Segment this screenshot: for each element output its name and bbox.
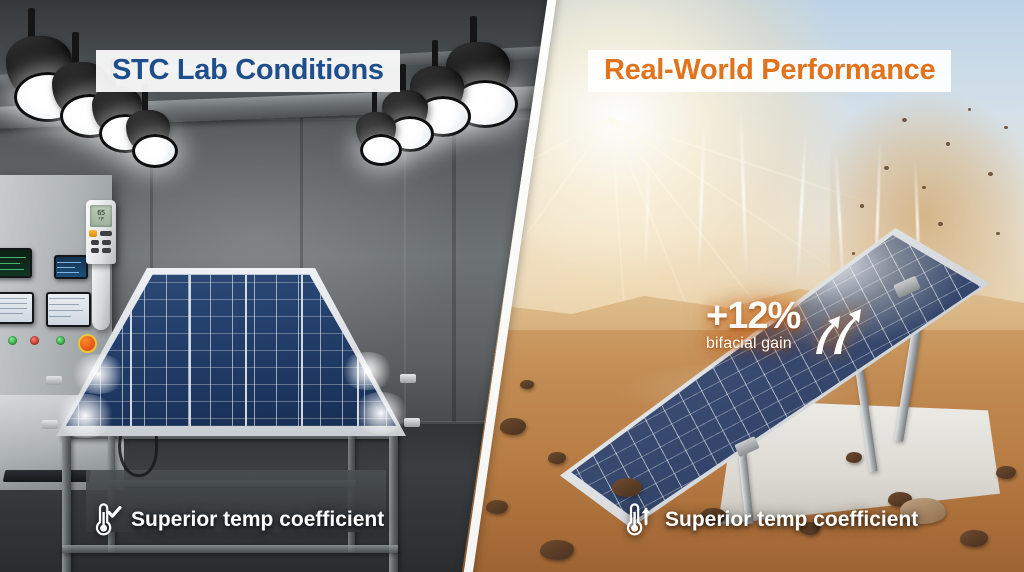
badge-label: bifacial gain <box>706 335 800 353</box>
left-title-text: STC Lab Conditions <box>112 54 384 86</box>
thermometer-body: 65 °F <box>86 200 116 264</box>
debris-speck <box>938 222 943 226</box>
debris-speck <box>1004 126 1008 129</box>
thermometer-up-icon <box>622 503 656 537</box>
rock <box>996 466 1016 479</box>
monitor-data-table <box>0 292 34 324</box>
left-caption: Superior temp coefficient <box>88 503 384 537</box>
right-title-text: Real-World Performance <box>604 54 935 86</box>
debris-speck <box>946 142 950 146</box>
green-indicator[interactable] <box>8 336 17 345</box>
red-indicator[interactable] <box>30 336 39 345</box>
panel-glare <box>54 394 116 438</box>
rock <box>500 418 526 435</box>
left-title-banner: STC Lab Conditions <box>96 50 400 92</box>
panel-clamp <box>400 374 416 383</box>
thermometer-key[interactable] <box>91 248 99 253</box>
busbar <box>301 275 303 426</box>
rock <box>960 530 988 547</box>
thermometer-unit: °F <box>90 217 112 223</box>
rock <box>520 380 534 389</box>
right-title-banner: Real-World Performance <box>588 50 951 92</box>
table-bottom-rail <box>62 545 398 553</box>
rock <box>486 500 508 514</box>
panel-clamp <box>42 420 58 429</box>
thermometer-key[interactable] <box>102 248 111 253</box>
right-caption-text: Superior temp coefficient <box>665 508 918 532</box>
debris-speck <box>968 108 971 111</box>
panel-glare <box>70 354 126 394</box>
debris-speck <box>902 118 907 122</box>
rock <box>540 540 574 560</box>
panel-glare <box>352 392 410 434</box>
panel-glare <box>340 352 394 390</box>
debris-speck <box>860 204 864 208</box>
lab-solar-panel <box>56 268 406 436</box>
right-caption: Superior temp coefficient <box>622 503 918 537</box>
comparison-graphic: 65 °F <box>0 0 1024 572</box>
panel-clamp <box>404 418 420 427</box>
rock <box>612 478 642 497</box>
monitor-waveform <box>0 248 32 278</box>
double-up-arrow-icon <box>804 300 862 358</box>
busbar <box>189 275 191 426</box>
debris-speck <box>884 166 889 170</box>
busbar <box>245 275 247 426</box>
bifacial-gain-badge: +12% bifacial gain <box>706 298 881 358</box>
thermometer-key[interactable] <box>100 231 112 236</box>
debris-speck <box>922 186 926 189</box>
thermometer-key[interactable] <box>91 240 99 245</box>
thermometer-check-icon <box>88 503 122 537</box>
thermometer-key[interactable] <box>102 240 111 245</box>
debris-speck <box>996 232 1000 235</box>
panel-clamp <box>46 376 62 385</box>
console-keyboard[interactable] <box>3 470 92 482</box>
badge-value: +12% <box>706 298 800 334</box>
thermometer-reading: 65 <box>90 209 112 217</box>
debris-speck <box>988 172 993 176</box>
rock <box>846 452 862 463</box>
left-caption-text: Superior temp coefficient <box>131 508 384 532</box>
thermometer-lcd: 65 °F <box>90 205 112 227</box>
rock <box>548 452 566 464</box>
thermometer-mode-button[interactable] <box>89 230 97 237</box>
